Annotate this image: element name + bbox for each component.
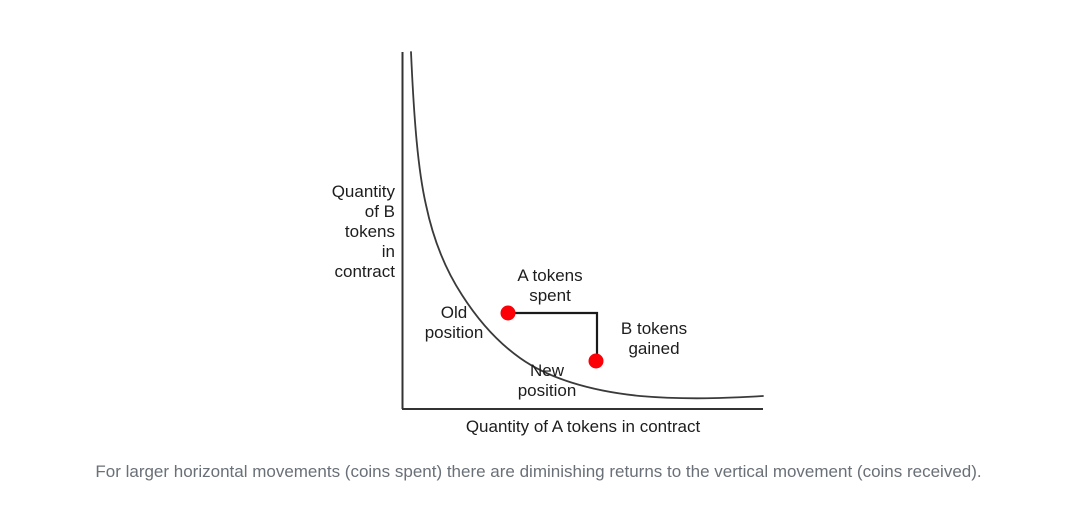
old-position-label: Old position [408,303,500,343]
old-position-marker[interactable] [501,306,516,321]
new-position-label: New position [500,361,594,401]
bonding-curve [411,52,763,398]
y-axis-label: Quantity of B tokens in contract [295,182,395,282]
a-tokens-spent-label: A tokens spent [505,266,595,306]
figure-container: Quantity of B tokens in contract Quantit… [0,0,1077,455]
b-tokens-gained-label: B tokens gained [608,319,700,359]
x-axis-label: Quantity of A tokens in contract [402,417,764,437]
step-connector [508,313,597,361]
figure-caption: For larger horizontal movements (coins s… [30,458,1047,486]
